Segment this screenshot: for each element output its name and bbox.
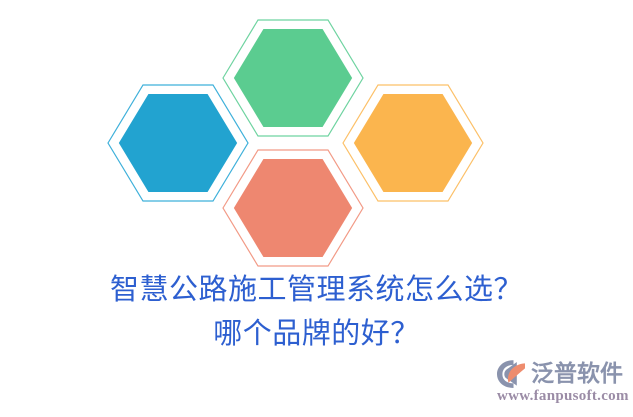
headline-line-1: 智慧公路施工管理系统怎么选？ [0,268,633,312]
blue-hexagon-fill [119,94,237,192]
salmon-hexagon-fill [234,159,352,257]
fanpu-logo-icon [496,359,529,389]
orange-hexagon [343,85,483,201]
green-hexagon [223,20,363,136]
hexagon-cluster-svg [0,0,633,280]
blue-hexagon [108,85,248,201]
hexagon-cluster [0,0,633,280]
orange-hexagon-fill [354,94,472,192]
page-title: 智慧公路施工管理系统怎么选？ 哪个品牌的好？ [0,268,633,356]
green-hexagon-fill [234,29,352,127]
logo-website-url: www.fanpusoft.com [497,388,629,405]
poster-canvas: 智慧公路施工管理系统怎么选？ 哪个品牌的好？ 泛普软件 www.fanpusof… [0,0,633,417]
brand-logo[interactable]: 泛普软件 www.fanpusoft.com [496,357,630,411]
logo-brand-name: 泛普软件 [531,359,623,389]
logo-row: 泛普软件 [496,357,623,390]
headline-line-2: 哪个品牌的好？ [0,312,633,356]
salmon-hexagon [223,150,363,266]
